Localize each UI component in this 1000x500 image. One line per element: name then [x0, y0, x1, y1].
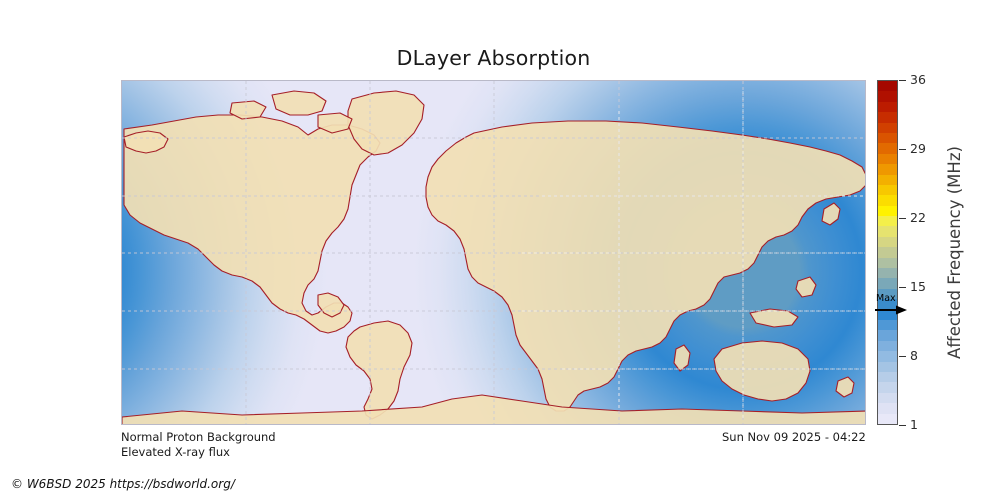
figure-canvas: DLayer Absorption [0, 0, 1000, 500]
colorbar-band [878, 403, 897, 413]
colorbar-band [878, 226, 897, 236]
colorbar-band [878, 102, 897, 112]
colorbar-tick-label: 22 [910, 212, 926, 225]
colorbar-band [878, 237, 897, 247]
timestamp-label: Sun Nov 09 2025 - 04:22 [722, 430, 866, 444]
colorbar-band [878, 268, 897, 278]
colorbar-tick-label: 29 [910, 143, 926, 156]
map-svg [122, 81, 866, 425]
map-plot-area[interactable] [121, 80, 866, 425]
colorbar-band [878, 414, 897, 424]
colorbar-band [878, 351, 897, 361]
colorbar-tick [899, 218, 906, 219]
colorbar-band [878, 123, 897, 133]
colorbar-band [878, 382, 897, 392]
arctic-island-3 [230, 101, 266, 119]
colorbar-tick [899, 80, 906, 81]
colorbar-band [878, 258, 897, 268]
colorbar-band [878, 112, 897, 122]
colorbar-band [878, 185, 897, 195]
colorbar-tick [899, 287, 906, 288]
colorbar-tick-label: 36 [910, 74, 926, 87]
colorbar-band [878, 175, 897, 185]
colorbar-band [878, 133, 897, 143]
colorbar-band [878, 143, 897, 153]
colorbar-band [878, 81, 897, 91]
copyright-label: © W6BSD 2025 https://bsdworld.org/ [11, 477, 235, 491]
status-line-2: Elevated X-ray flux [121, 445, 276, 460]
colorbar-band [878, 216, 897, 226]
colorbar-tick-label: 15 [910, 281, 926, 294]
colorbar-band [878, 341, 897, 351]
colorbar-band [878, 206, 897, 216]
colorbar-tick [899, 149, 906, 150]
colorbar-gradient [878, 81, 897, 424]
colorbar-band [878, 195, 897, 205]
colorbar-band [878, 299, 897, 309]
colorbar-band [878, 164, 897, 174]
colorbar-band [878, 289, 897, 299]
colorbar-band [878, 310, 897, 320]
colorbar-tick-label: 1 [910, 419, 918, 432]
colorbar-axis-label: Affected Frequency (MHz) [942, 80, 968, 425]
colorbar-tick-label: 8 [910, 350, 918, 363]
status-line-1: Normal Proton Background [121, 430, 276, 445]
colorbar-band [878, 278, 897, 288]
colorbar-band [878, 154, 897, 164]
colorbar-band [878, 362, 897, 372]
colorbar-band [878, 247, 897, 257]
page-title: DLayer Absorption [121, 46, 866, 70]
colorbar-band [878, 330, 897, 340]
status-text: Normal Proton Background Elevated X-ray … [121, 430, 276, 460]
colorbar-band [878, 320, 897, 330]
colorbar-band [878, 91, 897, 101]
colorbar-band [878, 372, 897, 382]
colorbar[interactable] [877, 80, 898, 425]
colorbar-tick [899, 425, 906, 426]
colorbar-tick [899, 356, 906, 357]
colorbar-band [878, 393, 897, 403]
